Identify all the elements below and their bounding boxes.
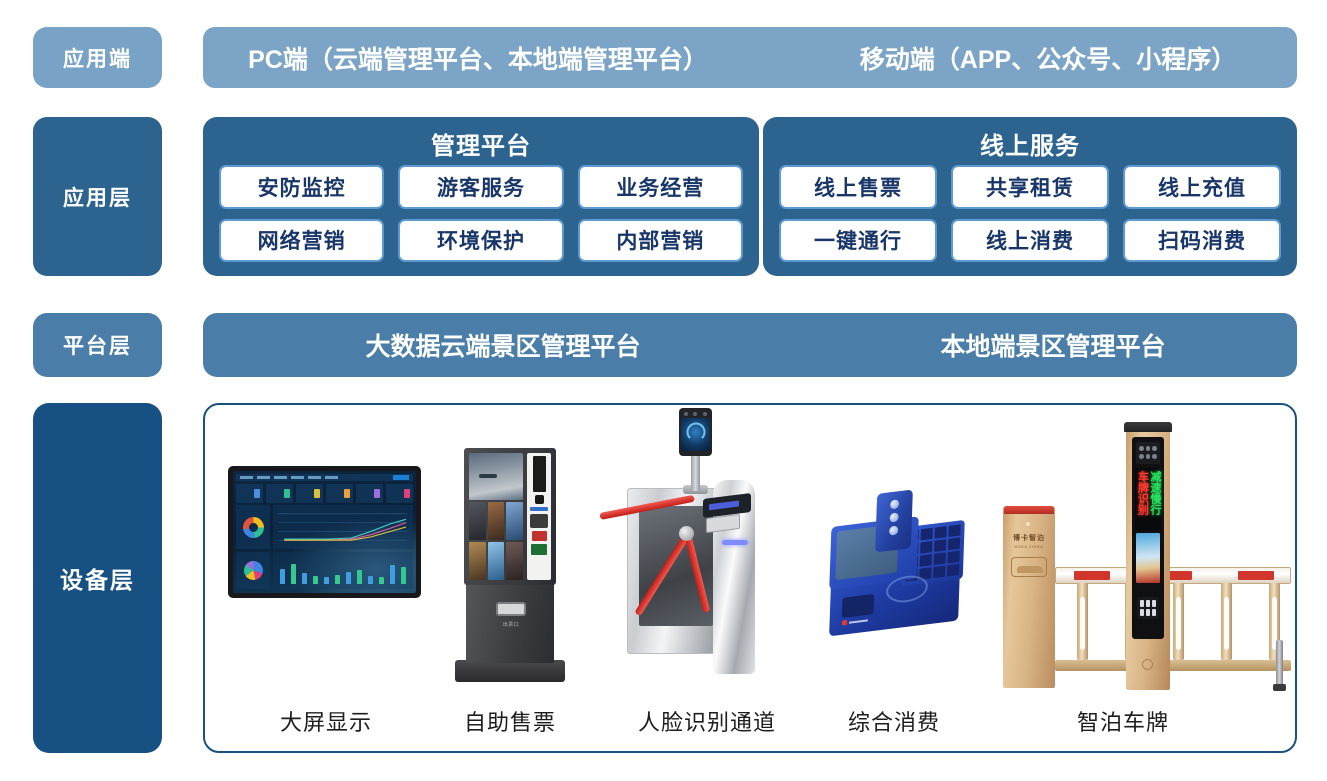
donut-chart-icon bbox=[236, 505, 270, 549]
led-line-green: 减速慢行 bbox=[1149, 471, 1161, 527]
barrier-support-foot bbox=[1276, 640, 1283, 686]
layer-chip-label: 应用端 bbox=[63, 43, 132, 73]
kiosk-payment-logo bbox=[532, 531, 547, 541]
kpi-card bbox=[386, 484, 413, 503]
group-panel-online-service: 线上服务 线上售票 共享租赁 线上充值 一键通行 线上消费 扫码消费 bbox=[763, 117, 1297, 276]
device-caption-self-service-ticketing: 自助售票 bbox=[442, 705, 578, 737]
kiosk-qr-scanner bbox=[531, 544, 547, 555]
kiosk-led-strip bbox=[533, 456, 546, 492]
pillar-keypad[interactable] bbox=[1137, 597, 1159, 619]
pillar-ad-panel bbox=[1136, 533, 1160, 583]
dashboard-bottom-row bbox=[236, 552, 413, 589]
tile-one-key-access[interactable]: 一键通行 bbox=[779, 219, 937, 263]
pie-chart-icon bbox=[236, 552, 270, 589]
device-big-screen-display bbox=[228, 466, 421, 598]
face-recognition-terminal[interactable] bbox=[679, 408, 712, 456]
pillar-cap bbox=[1124, 422, 1172, 432]
layer-chip-label: 应用层 bbox=[63, 182, 132, 212]
kiosk-camera-icon bbox=[535, 495, 544, 504]
tile-online-ticketing[interactable]: 线上售票 bbox=[779, 165, 937, 209]
barrier-arm-tag bbox=[1238, 571, 1274, 580]
group-title: 线上服务 bbox=[763, 126, 1297, 161]
tile-grid: 线上售票 共享租赁 线上充值 一键通行 线上消费 扫码消费 bbox=[763, 165, 1297, 262]
pillar-bolt bbox=[1142, 659, 1153, 670]
pos-camera-tower bbox=[875, 489, 913, 552]
kiosk-base bbox=[455, 660, 565, 682]
face-terminal-cameras bbox=[681, 412, 710, 416]
plate-recognition-screen: 减速慢行 车牌识别 bbox=[1132, 437, 1164, 639]
kiosk-head bbox=[464, 448, 556, 585]
device-caption-smart-parking-plate: 智泊车牌 bbox=[1040, 705, 1206, 737]
device-caption-integrated-payment: 综合消费 bbox=[826, 705, 962, 737]
kiosk-brand-bar bbox=[530, 507, 548, 511]
tile-business-operation[interactable]: 业务经营 bbox=[578, 165, 743, 209]
parking-indicator-dot bbox=[1026, 522, 1030, 526]
bar-chart-panel bbox=[273, 552, 413, 589]
tile-scan-code-payment[interactable]: 扫码消费 bbox=[1123, 219, 1281, 263]
platform-layer-bar: 大数据云端景区管理平台 本地端景区管理平台 bbox=[203, 313, 1297, 377]
layer-chip-app-client: 应用端 bbox=[33, 27, 162, 88]
kpi-card bbox=[326, 484, 353, 503]
fence-rail bbox=[1055, 660, 1291, 671]
tile-network-marketing[interactable]: 网络营销 bbox=[219, 219, 384, 263]
kpi-card bbox=[296, 484, 323, 503]
kiosk-hero-banner bbox=[469, 453, 523, 500]
kiosk-poster-grid bbox=[469, 502, 523, 580]
kpi-card bbox=[266, 484, 293, 503]
device-caption-face-recognition-gate: 人脸识别通道 bbox=[605, 705, 809, 737]
platform-local-label: 本地端景区管理平台 bbox=[818, 313, 1288, 377]
device-caption-big-screen-display: 大屏显示 bbox=[258, 705, 394, 737]
tile-shared-rental[interactable]: 共享租赁 bbox=[951, 165, 1109, 209]
app-client-bar: PC端（云端管理平台、本地端管理平台） 移动端（APP、公众号、小程序） bbox=[203, 27, 1297, 88]
tile-grid: 安防监控 游客服务 业务经营 网络营销 环境保护 内部营销 bbox=[203, 165, 759, 262]
turnstile-status-led bbox=[722, 540, 748, 545]
kiosk-card-tray bbox=[530, 514, 548, 528]
kpi-card bbox=[356, 484, 383, 503]
dashboard-kpi-row bbox=[236, 484, 413, 503]
turnstile-hub bbox=[679, 526, 694, 541]
parking-brand-label: 博卡智泊 bbox=[1008, 533, 1050, 543]
fence-bar bbox=[1173, 583, 1184, 660]
fence-bar bbox=[1221, 583, 1232, 660]
plate-camera-icon bbox=[1136, 442, 1160, 464]
platform-cloud-label: 大数据云端景区管理平台 bbox=[223, 313, 783, 377]
dashboard-navbar bbox=[236, 474, 413, 481]
line-chart-panel bbox=[273, 505, 413, 549]
led-line-red: 车牌识别 bbox=[1136, 471, 1148, 527]
dashboard-screen bbox=[233, 471, 416, 593]
barrier-fence bbox=[1055, 583, 1291, 671]
tile-online-recharge[interactable]: 线上充值 bbox=[1123, 165, 1281, 209]
layer-chip-label: 平台层 bbox=[63, 330, 132, 360]
app-client-mobile-label: 移动端（APP、公众号、小程序） bbox=[818, 27, 1278, 88]
app-client-pc-label: PC端（云端管理平台、本地端管理平台） bbox=[213, 27, 743, 88]
face-terminal-screen bbox=[681, 418, 710, 451]
layer-chip-device-layer: 设备层 bbox=[33, 403, 162, 753]
kiosk-side-panel bbox=[527, 453, 551, 580]
barrier-arm bbox=[1055, 567, 1291, 584]
kiosk-screen[interactable] bbox=[469, 453, 523, 580]
ticket-slot bbox=[496, 602, 526, 616]
dashboard-middle-row bbox=[236, 505, 413, 549]
group-panel-management-platform: 管理平台 安防监控 游客服务 业务经营 网络营销 环境保护 内部营销 bbox=[203, 117, 759, 276]
parking-brand-sublabel: BOKA ZHIBO bbox=[1008, 544, 1050, 549]
tile-internal-marketing[interactable]: 内部营销 bbox=[578, 219, 743, 263]
kpi-card bbox=[236, 484, 263, 503]
device-integrated-payment bbox=[820, 478, 970, 643]
tile-security-monitoring[interactable]: 安防监控 bbox=[219, 165, 384, 209]
line-chart-svg bbox=[273, 505, 413, 549]
architecture-diagram: 应用端 应用层 平台层 设备层 PC端（云端管理平台、本地端管理平台） 移动端（… bbox=[0, 0, 1327, 781]
barrier-arm-tag bbox=[1074, 571, 1110, 580]
layer-chip-platform-layer: 平台层 bbox=[33, 313, 162, 377]
pos-scan-window bbox=[842, 594, 874, 618]
tile-online-payment[interactable]: 线上消费 bbox=[951, 219, 1109, 263]
group-title: 管理平台 bbox=[203, 126, 759, 161]
tile-environment-protect[interactable]: 环境保护 bbox=[398, 219, 563, 263]
layer-chip-app-layer: 应用层 bbox=[33, 117, 162, 276]
fence-bar bbox=[1077, 583, 1088, 660]
led-message-board: 减速慢行 车牌识别 bbox=[1135, 468, 1161, 530]
parking-cabinet-light bbox=[1004, 506, 1054, 514]
tile-visitor-service[interactable]: 游客服务 bbox=[398, 165, 563, 209]
layer-chip-label: 设备层 bbox=[60, 561, 135, 595]
ticket-slot-label: 出票口 bbox=[490, 621, 532, 628]
car-icon bbox=[1011, 557, 1047, 577]
